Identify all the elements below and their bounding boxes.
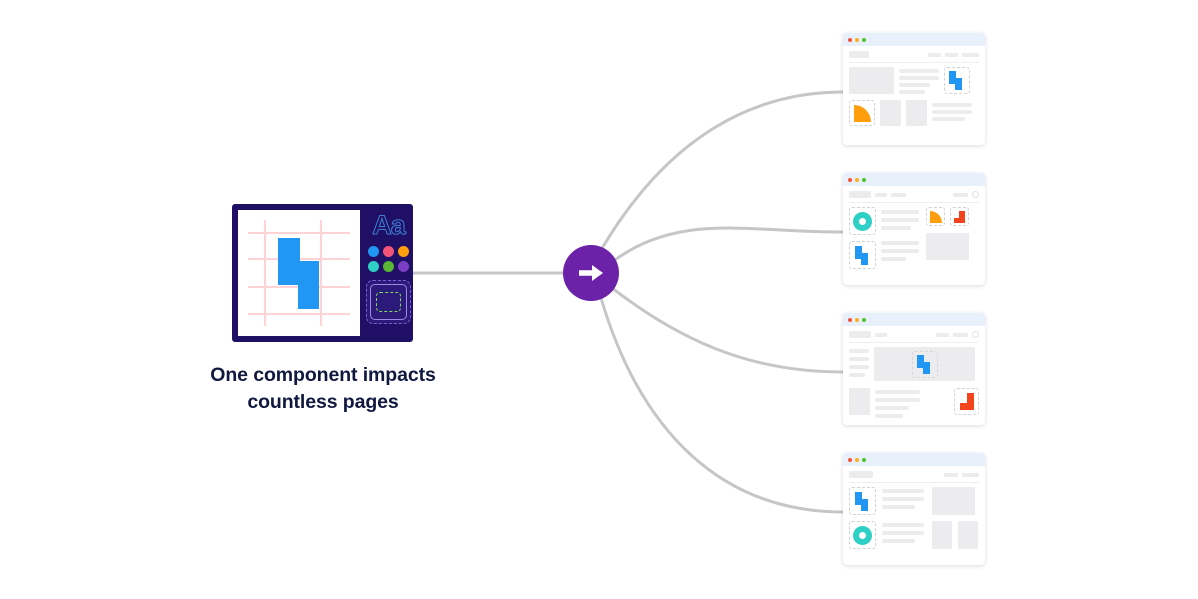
component-card[interactable]: Aa bbox=[232, 204, 413, 342]
minimize-dot[interactable] bbox=[855, 318, 859, 322]
donut-icon bbox=[853, 212, 872, 231]
media-block bbox=[932, 521, 952, 549]
page-nav bbox=[849, 51, 979, 58]
page-content bbox=[843, 466, 985, 565]
text-line bbox=[882, 505, 915, 509]
quarter-circle-icon bbox=[930, 211, 942, 223]
component-slot[interactable] bbox=[944, 67, 970, 94]
divider bbox=[849, 202, 979, 203]
hero-row bbox=[849, 347, 979, 381]
swatch-purple[interactable] bbox=[398, 261, 409, 272]
text-line bbox=[875, 390, 920, 394]
page-content bbox=[843, 46, 985, 145]
divider bbox=[849, 62, 979, 63]
component-glyph bbox=[855, 246, 871, 265]
component-slot[interactable] bbox=[912, 351, 938, 378]
swatch-orange[interactable] bbox=[398, 246, 409, 257]
text-line bbox=[899, 69, 939, 73]
connector-hub-to-page-3 bbox=[612, 288, 843, 372]
dashboard-row bbox=[849, 207, 979, 269]
component-side-panel: Aa bbox=[366, 210, 411, 336]
text-line bbox=[882, 489, 924, 493]
swatch-teal[interactable] bbox=[368, 261, 379, 272]
illustration-slot[interactable] bbox=[954, 388, 979, 415]
text-line bbox=[882, 539, 915, 543]
component-glyph bbox=[949, 71, 965, 90]
arrow-right-icon bbox=[578, 263, 604, 283]
text-line bbox=[882, 523, 924, 527]
page-logo bbox=[849, 471, 873, 478]
minimize-dot[interactable] bbox=[855, 458, 859, 462]
page-logo bbox=[849, 51, 869, 58]
text-line bbox=[932, 117, 965, 121]
color-swatches bbox=[366, 245, 411, 272]
avatar-slot[interactable] bbox=[849, 207, 876, 235]
content-block bbox=[906, 100, 927, 126]
text-line bbox=[875, 406, 909, 410]
swatch-blue[interactable] bbox=[368, 246, 379, 257]
page-content bbox=[843, 326, 985, 425]
component-widget-preview bbox=[366, 280, 411, 324]
media-block bbox=[932, 487, 975, 515]
chart-block bbox=[926, 233, 969, 260]
minimize-dot[interactable] bbox=[855, 38, 859, 42]
text-line bbox=[875, 398, 920, 402]
chart-slot[interactable] bbox=[926, 207, 945, 226]
nav-item[interactable] bbox=[953, 333, 968, 337]
connector-hub-to-page-4 bbox=[601, 298, 843, 512]
minimize-dot[interactable] bbox=[855, 178, 859, 182]
component-canvas bbox=[238, 210, 360, 336]
text-line bbox=[899, 76, 939, 80]
page-thumbnail-marketing[interactable] bbox=[843, 33, 985, 145]
text-line bbox=[899, 90, 925, 94]
component-glyph bbox=[855, 492, 871, 511]
window-titlebar bbox=[843, 453, 985, 466]
component-slot[interactable] bbox=[849, 241, 876, 269]
quarter-circle-icon bbox=[854, 105, 871, 122]
text-line bbox=[881, 249, 919, 253]
feature-row bbox=[849, 100, 979, 126]
close-dot[interactable] bbox=[848, 458, 852, 462]
nav-item[interactable] bbox=[891, 193, 906, 197]
typography-sample: Aa bbox=[366, 210, 411, 240]
connector-hub-to-page-1 bbox=[601, 92, 843, 250]
text-line bbox=[881, 226, 911, 230]
typography-sample-text: Aa bbox=[372, 212, 405, 239]
caption-line-1: One component impacts bbox=[182, 362, 464, 389]
text-line bbox=[881, 257, 906, 261]
close-dot[interactable] bbox=[848, 178, 852, 182]
avatar[interactable] bbox=[972, 191, 979, 198]
close-dot[interactable] bbox=[848, 318, 852, 322]
window-titlebar bbox=[843, 33, 985, 46]
nav-item[interactable] bbox=[944, 473, 958, 477]
text-line bbox=[849, 349, 869, 353]
page-nav bbox=[849, 331, 979, 338]
nav-item[interactable] bbox=[875, 333, 887, 337]
avatar-slot[interactable] bbox=[849, 521, 876, 549]
window-titlebar bbox=[843, 313, 985, 326]
nav-item[interactable] bbox=[945, 53, 958, 57]
diagram-canvas: Aa One component impacts countless pages bbox=[0, 0, 1198, 599]
window-titlebar bbox=[843, 173, 985, 186]
ell-shape-icon bbox=[960, 393, 974, 410]
text-line bbox=[849, 373, 865, 377]
text-line bbox=[932, 103, 972, 107]
nav-item[interactable] bbox=[962, 473, 979, 477]
widget-inner-frame bbox=[376, 292, 401, 311]
hero-row bbox=[849, 67, 979, 94]
media-block bbox=[958, 521, 978, 549]
nav-item[interactable] bbox=[936, 333, 949, 337]
swatch-green[interactable] bbox=[383, 261, 394, 272]
maximize-dot[interactable] bbox=[862, 178, 866, 182]
text-line bbox=[899, 83, 930, 87]
maximize-dot[interactable] bbox=[862, 458, 866, 462]
widget-mid-frame bbox=[370, 284, 407, 320]
avatar[interactable] bbox=[972, 331, 979, 338]
connector-hub-to-page-2 bbox=[612, 228, 843, 262]
text-line bbox=[849, 357, 869, 361]
hero-block bbox=[874, 347, 975, 381]
content-block bbox=[849, 388, 870, 415]
caption-line-2: countless pages bbox=[182, 389, 464, 416]
listing-row bbox=[849, 487, 979, 515]
divider bbox=[849, 482, 979, 483]
maximize-dot[interactable] bbox=[862, 38, 866, 42]
page-logo bbox=[849, 191, 871, 198]
component-glyph bbox=[917, 355, 933, 374]
page-nav bbox=[849, 191, 979, 198]
ell-shape-icon bbox=[954, 211, 965, 223]
text-line bbox=[882, 497, 924, 501]
component-slot[interactable] bbox=[849, 487, 876, 515]
content-block bbox=[880, 100, 901, 126]
nav-item[interactable] bbox=[953, 193, 968, 197]
component-glyph bbox=[238, 210, 360, 336]
donut-icon bbox=[853, 526, 872, 545]
text-line bbox=[932, 110, 972, 114]
page-logo bbox=[849, 331, 871, 338]
page-title: One component impacts countless pages bbox=[182, 362, 464, 416]
page-content bbox=[843, 186, 985, 285]
illustration-slot[interactable] bbox=[849, 100, 875, 126]
hub-node[interactable] bbox=[563, 245, 619, 301]
text-line bbox=[881, 241, 919, 245]
chart-slot[interactable] bbox=[950, 207, 969, 226]
text-line bbox=[881, 210, 919, 214]
close-dot[interactable] bbox=[848, 38, 852, 42]
nav-item[interactable] bbox=[928, 53, 941, 57]
listing-row bbox=[849, 521, 979, 549]
text-line bbox=[849, 365, 869, 369]
hero-image-block bbox=[849, 67, 894, 94]
text-line bbox=[881, 218, 919, 222]
text-line bbox=[882, 531, 924, 535]
page-thumbnail-listing[interactable] bbox=[843, 453, 985, 565]
page-thumbnail-dashboard[interactable] bbox=[843, 173, 985, 285]
nav-item[interactable] bbox=[962, 53, 979, 57]
text-line bbox=[875, 414, 903, 418]
nav-item[interactable] bbox=[875, 193, 887, 197]
article-row bbox=[849, 388, 979, 418]
page-nav bbox=[849, 471, 979, 478]
swatch-pink[interactable] bbox=[383, 246, 394, 257]
divider bbox=[849, 342, 979, 343]
maximize-dot[interactable] bbox=[862, 318, 866, 322]
page-thumbnail-article[interactable] bbox=[843, 313, 985, 425]
